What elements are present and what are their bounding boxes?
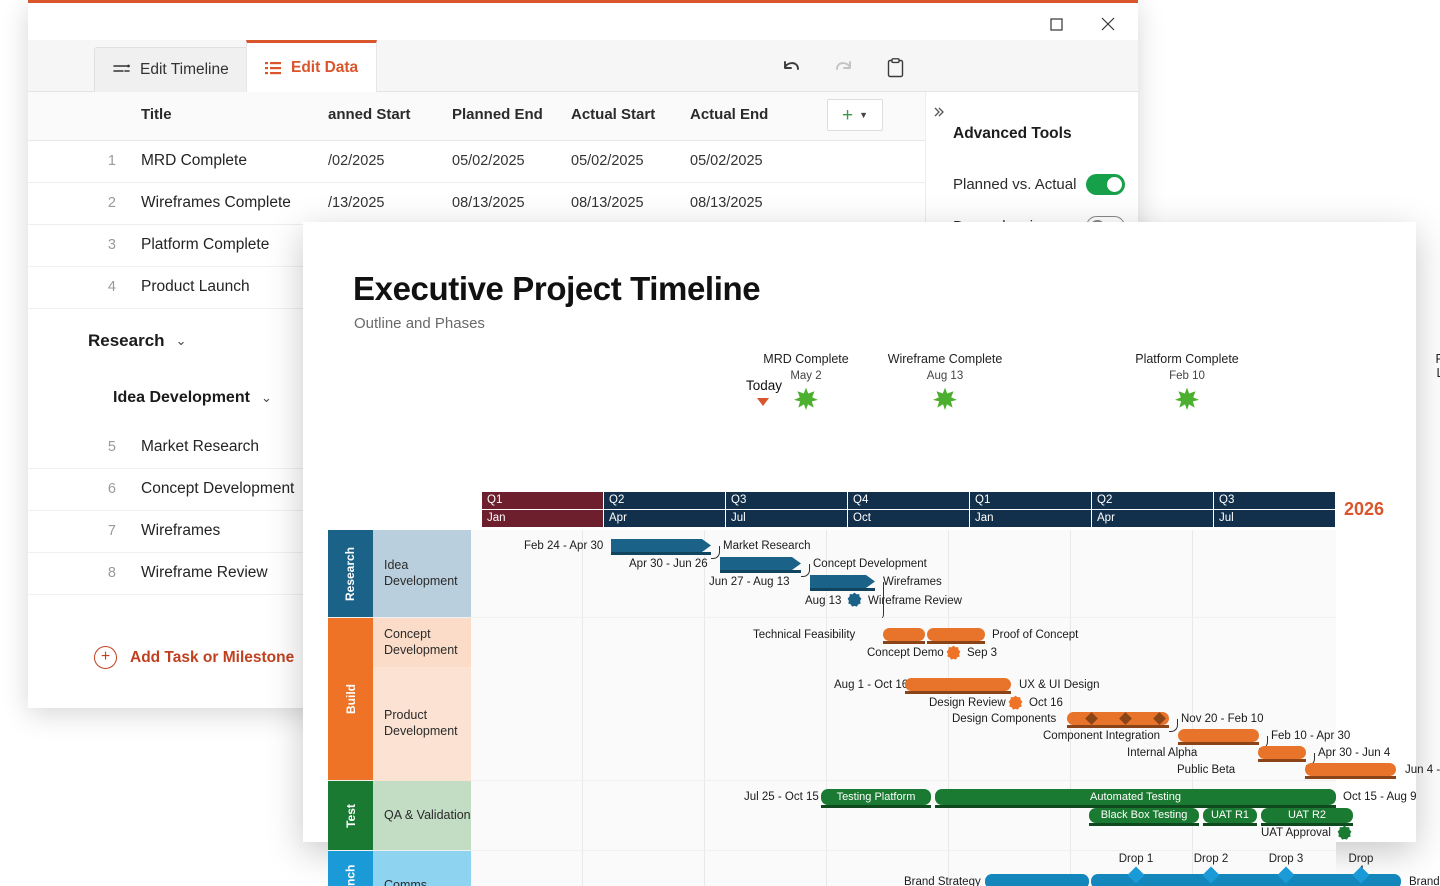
- row-title[interactable]: MRD Complete: [141, 152, 247, 170]
- today-label: Today: [746, 378, 782, 393]
- row-title[interactable]: Wireframes: [141, 522, 220, 540]
- task-range: Jul 25 - Oct 15: [744, 791, 819, 803]
- task-range: Jun 4 - Aug 9: [1405, 764, 1440, 776]
- group-column-research: Idea Development: [373, 530, 471, 617]
- table-row[interactable]: 1 MRD Complete /02/2025 05/02/2025 05/02…: [28, 141, 925, 183]
- swimlane-bar-research: Research: [328, 530, 373, 617]
- drop-label: Drop 1: [1119, 853, 1154, 865]
- planned-vs-actual-toggle[interactable]: [1086, 174, 1125, 195]
- top-milestone-date: Aug 13: [927, 370, 963, 382]
- plus-icon: +: [842, 106, 853, 125]
- milestone-star-icon: [1175, 386, 1199, 415]
- row-number: 1: [98, 153, 116, 169]
- task-label: Black Box Testing: [1089, 808, 1199, 823]
- actual-bar: [1089, 823, 1199, 826]
- task-label: Automated Testing: [935, 790, 1336, 804]
- task-range: Aug 1 - Oct 16: [834, 679, 908, 691]
- task-bar-uat-r2[interactable]: UAT R2: [1261, 808, 1353, 823]
- task-range: Oct 15 - Aug 9: [1343, 791, 1417, 803]
- row-number: 8: [98, 565, 116, 581]
- lane-body-research: Feb 24 - Apr 30 Market Research Apr 30 -…: [471, 530, 1336, 617]
- top-milestone-label: Product Launch: [1435, 352, 1440, 380]
- swimlane-bar-test: Test: [328, 781, 373, 850]
- axis-quarter: Q4: [848, 492, 970, 509]
- actual-bar: [1178, 742, 1259, 745]
- task-bar-automated-testing[interactable]: Automated Testing: [935, 789, 1336, 805]
- swimlane-build: Build Concept Development Product Develo…: [328, 618, 1336, 781]
- task-bar-proof-of-concept[interactable]: [927, 628, 985, 641]
- row-title[interactable]: Wireframe Review: [141, 564, 268, 582]
- cell-planned-end[interactable]: 05/02/2025: [452, 153, 525, 169]
- table-row[interactable]: 4 Product Launch: [28, 267, 328, 309]
- row-title[interactable]: Platform Complete: [141, 236, 269, 254]
- milestone-date: Oct 16: [1029, 697, 1063, 709]
- group-column-test: QA & Validation: [373, 781, 471, 850]
- top-milestone-label: Wireframe Complete: [888, 352, 1003, 366]
- task-label: Public Beta: [1177, 764, 1235, 776]
- task-label: UX & UI Design: [1019, 679, 1100, 691]
- task-range: Nov 20 - Feb 10: [1181, 713, 1263, 725]
- swimlane-label: Research: [344, 546, 358, 600]
- timeline-axis: Q1 Q2 Q3 Q4 Q1 Q2 Q3 Jan Apr Jul Oct Jan…: [482, 492, 1336, 527]
- column-header-actual-start[interactable]: Actual Start: [571, 106, 655, 123]
- task-range: Apr 30 - Jun 26: [629, 558, 708, 570]
- undo-icon[interactable]: [778, 55, 804, 81]
- actual-bar: [1258, 759, 1306, 762]
- add-task-button[interactable]: + Add Task or Milestone: [94, 646, 294, 669]
- toggle-label: Planned vs. Actual: [953, 176, 1076, 193]
- axis-month: Apr: [604, 510, 726, 527]
- chevron-down-icon: ▼: [859, 110, 868, 120]
- milestone-star-icon: [794, 386, 818, 415]
- milestone-octagon-icon: [1008, 695, 1023, 715]
- collapse-panel-icon[interactable]: [933, 106, 946, 122]
- group-label: Research: [88, 331, 165, 351]
- plus-circle-icon: +: [94, 646, 117, 669]
- actual-bar: [927, 641, 985, 644]
- clipboard-icon[interactable]: [882, 55, 908, 81]
- tab-edit-data[interactable]: Edit Data: [246, 40, 377, 92]
- group-label-comms: Comms: [373, 851, 471, 886]
- actual-bar: [883, 641, 925, 644]
- swimlane-label: Test: [343, 804, 357, 828]
- milestone-date: Sep 3: [967, 647, 997, 659]
- lane-body-test: Jul 25 - Oct 15 Testing Platform Automat…: [471, 781, 1336, 850]
- chevron-down-icon[interactable]: ⌄: [176, 333, 187, 349]
- axis-month: Oct: [848, 510, 970, 527]
- swimlane-bar-build: Build: [328, 618, 373, 780]
- task-label: Testing Platform: [821, 790, 931, 804]
- task-bar-brand-strategy[interactable]: [985, 874, 1089, 886]
- group-label-concept-development: Concept Development: [373, 618, 471, 667]
- milestone-label: UAT Approval: [1261, 827, 1331, 839]
- table-row[interactable]: 2 Wireframes Complete /13/2025 08/13/202…: [28, 183, 925, 225]
- task-bar-black-box-testing[interactable]: Black Box Testing: [1089, 808, 1199, 823]
- cell-actual-end[interactable]: 05/02/2025: [690, 153, 763, 169]
- gantt-chart: MRD Complete May 2 Wireframe Complete Au…: [323, 342, 1396, 820]
- screen: Edit Timeline Edit Data Title anne: [0, 0, 1440, 886]
- task-range: Feb 24 - Apr 30: [524, 540, 603, 552]
- actual-bar: [905, 691, 1011, 694]
- task-label: UAT R1: [1203, 808, 1257, 823]
- table-row[interactable]: 7 Wireframes: [28, 511, 328, 553]
- row-title[interactable]: Concept Development: [141, 480, 294, 498]
- add-column-button[interactable]: + ▼: [827, 99, 883, 131]
- maximize-button[interactable]: [1034, 7, 1078, 41]
- task-label: Wireframes: [883, 576, 942, 588]
- row-title[interactable]: Market Research: [141, 438, 259, 456]
- task-label: Market Research: [723, 540, 811, 552]
- actual-bar: [611, 552, 711, 555]
- actual-bar: [1203, 823, 1257, 826]
- axis-quarter: Q3: [726, 492, 848, 509]
- page-title: Executive Project Timeline: [353, 270, 760, 308]
- row-number: 6: [98, 481, 116, 497]
- task-bar-market-research[interactable]: [611, 539, 711, 552]
- tab-edit-timeline[interactable]: Edit Timeline: [94, 47, 248, 92]
- task-label: Component Integration: [1043, 730, 1160, 742]
- list-icon: [265, 61, 281, 75]
- swimlane-research: Research Idea Development Feb 24 - Apr 3…: [328, 530, 1336, 618]
- axis-quarter: Q1: [970, 492, 1092, 509]
- task-bar-testing-platform[interactable]: Testing Platform: [821, 789, 931, 805]
- actual-bar: [821, 805, 931, 808]
- axis-year-label: 2026: [1344, 499, 1384, 520]
- task-label: Concept Development: [813, 558, 927, 570]
- task-bar-component-integration[interactable]: [1178, 729, 1259, 742]
- column-header-planned-end[interactable]: Planned End: [452, 106, 543, 123]
- cell-actual-end[interactable]: 08/13/2025: [690, 195, 763, 211]
- row-number: 7: [98, 523, 116, 539]
- task-label: Technical Feasibility: [753, 629, 855, 641]
- panel-title: Advanced Tools: [953, 125, 1072, 143]
- milestone-octagon-icon: [946, 645, 961, 665]
- axis-quarter: Q1: [482, 492, 604, 509]
- swimlane-launch: Launch Comms Drop 1 Drop 2: [328, 851, 1336, 886]
- top-milestone-date: Feb 10: [1169, 370, 1205, 382]
- add-task-label: Add Task or Milestone: [130, 649, 294, 667]
- table-row[interactable]: 6 Concept Development: [28, 469, 328, 511]
- axis-month: Jul: [726, 510, 848, 527]
- table-header: Title anned Start Planned End Actual Sta…: [28, 92, 925, 141]
- task-bar-wireframes[interactable]: [810, 575, 875, 588]
- drop-label: Drop 3: [1269, 853, 1304, 865]
- axis-quarter: Q2: [604, 492, 726, 509]
- lane-body-launch: Drop 1 Drop 2 Drop 3 Drop 4 Brand Strate…: [471, 851, 1336, 886]
- swimlane-bar-launch: Launch: [328, 851, 373, 886]
- window-controls: [1034, 7, 1130, 41]
- task-bar-technical-feasibility[interactable]: [883, 628, 925, 641]
- tab-edit-timeline-label: Edit Timeline: [140, 61, 229, 79]
- cell-planned-end[interactable]: 08/13/2025: [452, 195, 525, 211]
- task-label: Brand Train: [1409, 876, 1440, 886]
- column-header-planned-start[interactable]: anned Start: [328, 106, 411, 123]
- group-label-idea-development: Idea Development: [373, 530, 471, 618]
- row-number: 2: [98, 195, 116, 211]
- group-column-launch: Comms: [373, 851, 471, 886]
- table-row[interactable]: 8 Wireframe Review: [28, 553, 328, 595]
- dependency-connector: [875, 582, 884, 621]
- task-range: Apr 30 - Jun 4: [1318, 747, 1390, 759]
- tab-edit-data-label: Edit Data: [291, 59, 358, 77]
- swimlane-label: Build: [344, 684, 358, 714]
- task-bar-concept-development[interactable]: [720, 557, 801, 570]
- page-subtitle: Outline and Phases: [354, 315, 485, 332]
- timeline-icon: [113, 63, 130, 77]
- milestone-star-icon: [933, 386, 957, 415]
- task-range: Jun 27 - Aug 13: [709, 576, 790, 588]
- timeline-preview-card: Executive Project Timeline Outline and P…: [303, 222, 1416, 842]
- group-column-build: Concept Development Product Development: [373, 618, 471, 780]
- axis-month: Apr: [1092, 510, 1214, 527]
- top-milestone-date: May 2: [790, 370, 821, 382]
- task-bar-ux-ui-design[interactable]: [905, 678, 1011, 691]
- row-title[interactable]: Product Launch: [141, 278, 250, 296]
- top-milestone-label: MRD Complete: [763, 352, 848, 366]
- task-bar-internal-alpha[interactable]: [1258, 746, 1306, 759]
- close-button[interactable]: [1086, 7, 1130, 41]
- milestone-octagon-icon: [1337, 825, 1352, 845]
- column-header-title[interactable]: Title: [141, 106, 172, 123]
- actual-bar: [720, 570, 801, 573]
- milestone-date: Aug 13: [805, 595, 841, 607]
- redo-icon[interactable]: [830, 55, 856, 81]
- axis-quarter: Q2: [1092, 492, 1214, 509]
- row-number: 5: [98, 439, 116, 455]
- cell-actual-start[interactable]: 05/02/2025: [571, 153, 644, 169]
- tab-bar: Edit Timeline Edit Data: [28, 40, 1138, 92]
- swimlanes: Research Idea Development Feb 24 - Apr 3…: [328, 530, 1336, 886]
- toggle-row-planned-vs-actual[interactable]: Planned vs. Actual: [953, 174, 1125, 195]
- cell-actual-start[interactable]: 08/13/2025: [571, 195, 644, 211]
- lane-body-build: Technical Feasibility Proof of Concept C…: [471, 618, 1336, 780]
- top-milestone-label: Platform Complete: [1135, 352, 1239, 366]
- task-label: Proof of Concept: [992, 629, 1078, 641]
- cell-planned-start[interactable]: /13/2025: [328, 195, 384, 211]
- toolbar: [778, 55, 908, 81]
- row-number: 4: [98, 279, 116, 295]
- axis-month: Jan: [970, 510, 1092, 527]
- drop-label: Drop 2: [1194, 853, 1229, 865]
- task-range: Feb 10 - Apr 30: [1271, 730, 1350, 742]
- cell-planned-start[interactable]: /02/2025: [328, 153, 384, 169]
- task-label: UAT R2: [1261, 808, 1353, 823]
- subgroup-label: Idea Development: [113, 389, 250, 407]
- actual-bar: [1305, 776, 1396, 779]
- group-label-product-development: Product Development: [373, 667, 471, 781]
- actual-bar: [810, 588, 875, 591]
- task-label: Brand Strategy: [904, 876, 981, 886]
- table-row[interactable]: 5 Market Research: [28, 427, 328, 469]
- column-header-actual-end[interactable]: Actual End: [690, 106, 768, 123]
- table-row[interactable]: 3 Platform Complete: [28, 225, 328, 267]
- swimlane-label: Launch: [343, 865, 357, 886]
- axis-quarter: Q3: [1214, 492, 1336, 509]
- axis-month: Jan: [482, 510, 604, 527]
- actual-bar: [1067, 725, 1169, 728]
- toggle-knob: [1107, 177, 1122, 192]
- row-number: 3: [98, 237, 116, 253]
- milestone-octagon-icon: [847, 592, 862, 612]
- today-marker-icon: [757, 398, 769, 406]
- task-bar-uat-r1[interactable]: UAT R1: [1203, 808, 1257, 823]
- group-label-qa-validation: QA & Validation: [373, 781, 471, 851]
- axis-month: Jul: [1214, 510, 1336, 527]
- milestone-label: Design Review: [929, 697, 1006, 709]
- chevron-down-icon[interactable]: ⌄: [261, 390, 272, 406]
- task-label: Design Components: [952, 713, 1056, 725]
- swimlane-test: Test QA & Validation Jul 25 - Oct 15: [328, 781, 1336, 851]
- task-label: Internal Alpha: [1127, 747, 1197, 759]
- row-title[interactable]: Wireframes Complete: [141, 194, 291, 212]
- milestone-label: Concept Demo: [867, 647, 944, 659]
- task-bar-public-beta[interactable]: [1305, 763, 1396, 776]
